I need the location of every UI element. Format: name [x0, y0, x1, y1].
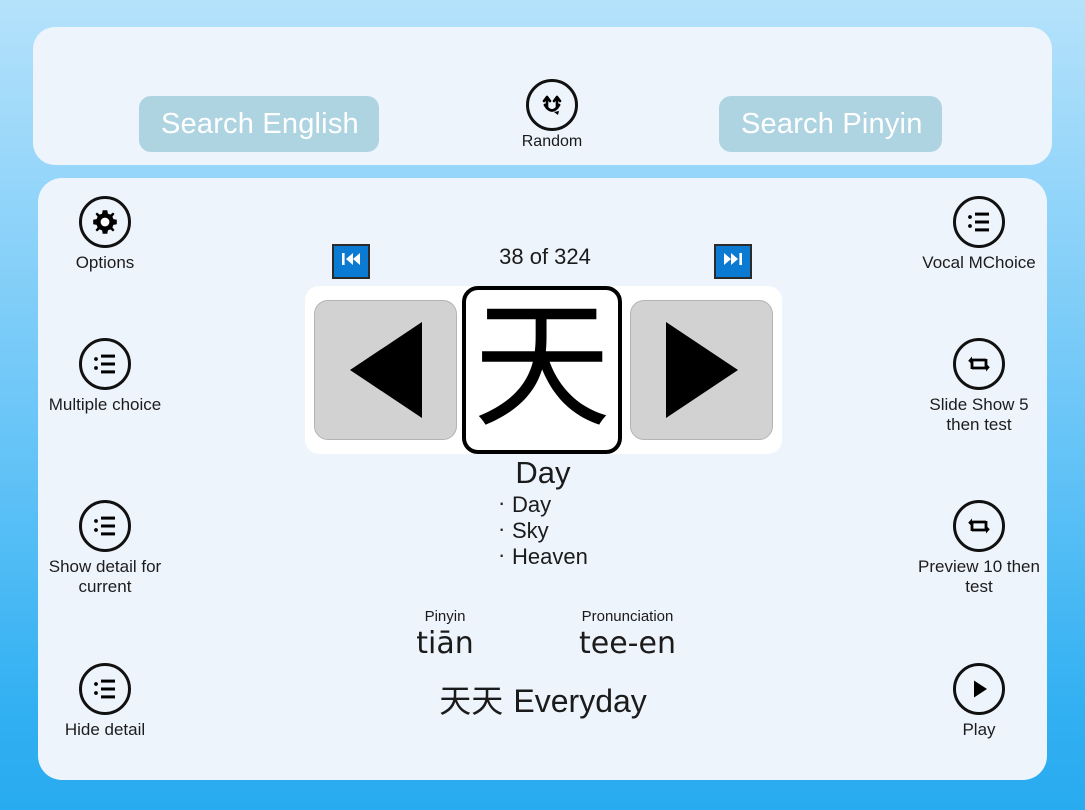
tool-options[interactable]: Options	[39, 196, 171, 273]
pinyin-block: Pinyin tiān	[360, 608, 530, 661]
play-icon	[953, 663, 1005, 715]
skip-to-start-icon	[339, 250, 363, 273]
tool-show-detail-for-current[interactable]: Show detail for current	[39, 500, 171, 597]
pronunciation-block: Pronunciation tee-en	[530, 608, 725, 661]
list-icon	[953, 196, 1005, 248]
triangle-left-icon	[350, 322, 422, 418]
pronunciation-row: Pinyin tiān Pronunciation tee-en	[360, 608, 725, 661]
flashcard-strip: 天	[305, 286, 782, 454]
tool-preview-10-then-test[interactable]: Preview 10 then test	[913, 500, 1045, 597]
repeat-icon	[953, 338, 1005, 390]
repeat-icon	[953, 500, 1005, 552]
shuffle-icon	[526, 79, 578, 131]
tool-label: Slide Show 5 then test	[913, 395, 1045, 435]
triangle-right-icon	[666, 322, 738, 418]
list-item: Sky	[498, 518, 738, 544]
flashcard-app: Search English Random Search Pinyin Opt	[0, 0, 1085, 810]
tool-vocal-mchoice[interactable]: Vocal MChoice	[913, 196, 1045, 273]
list-item: Heaven	[498, 544, 738, 570]
tool-label: Play	[913, 720, 1045, 740]
tool-label: Preview 10 then test	[913, 557, 1045, 597]
list-icon	[79, 338, 131, 390]
pronunciation-value: tee-en	[530, 626, 725, 661]
previous-card-button[interactable]	[314, 300, 457, 440]
pinyin-header: Pinyin	[360, 608, 530, 625]
tool-slide-show-5-then-test[interactable]: Slide Show 5 then test	[913, 338, 1045, 435]
skip-to-last-button[interactable]	[714, 244, 752, 279]
tool-label: Show detail for current	[39, 557, 171, 597]
tool-multiple-choice[interactable]: Multiple choice	[39, 338, 171, 415]
list-item: Day	[498, 492, 738, 518]
skip-to-end-icon	[721, 250, 745, 273]
definition-list: Day Sky Heaven	[498, 492, 738, 570]
skip-to-first-button[interactable]	[332, 244, 370, 279]
example-chinese: 天天	[439, 682, 503, 720]
character-glyph: 天	[473, 298, 611, 436]
meaning-title: Day	[393, 455, 693, 491]
random-button[interactable]: Random	[517, 79, 587, 151]
list-icon	[79, 663, 131, 715]
pronunciation-header: Pronunciation	[530, 608, 725, 625]
next-card-button[interactable]	[630, 300, 773, 440]
search-panel: Search English Random Search Pinyin	[33, 27, 1052, 165]
character-card[interactable]: 天	[462, 286, 622, 454]
search-english-button[interactable]: Search English	[139, 96, 379, 152]
example-phrase: 天天 Everyday	[343, 676, 743, 722]
gear-icon	[79, 196, 131, 248]
tool-label: Hide detail	[39, 720, 171, 740]
tool-hide-detail[interactable]: Hide detail	[39, 663, 171, 740]
random-label: Random	[517, 133, 587, 151]
tool-play[interactable]: Play	[913, 663, 1045, 740]
tool-label: Multiple choice	[39, 395, 171, 415]
tool-label: Vocal MChoice	[913, 253, 1045, 273]
pinyin-value: tiān	[360, 626, 530, 661]
card-counter: 38 of 324	[420, 244, 670, 270]
search-pinyin-button[interactable]: Search Pinyin	[719, 96, 942, 152]
example-english: Everyday	[513, 683, 646, 719]
tool-label: Options	[39, 253, 171, 273]
list-icon	[79, 500, 131, 552]
